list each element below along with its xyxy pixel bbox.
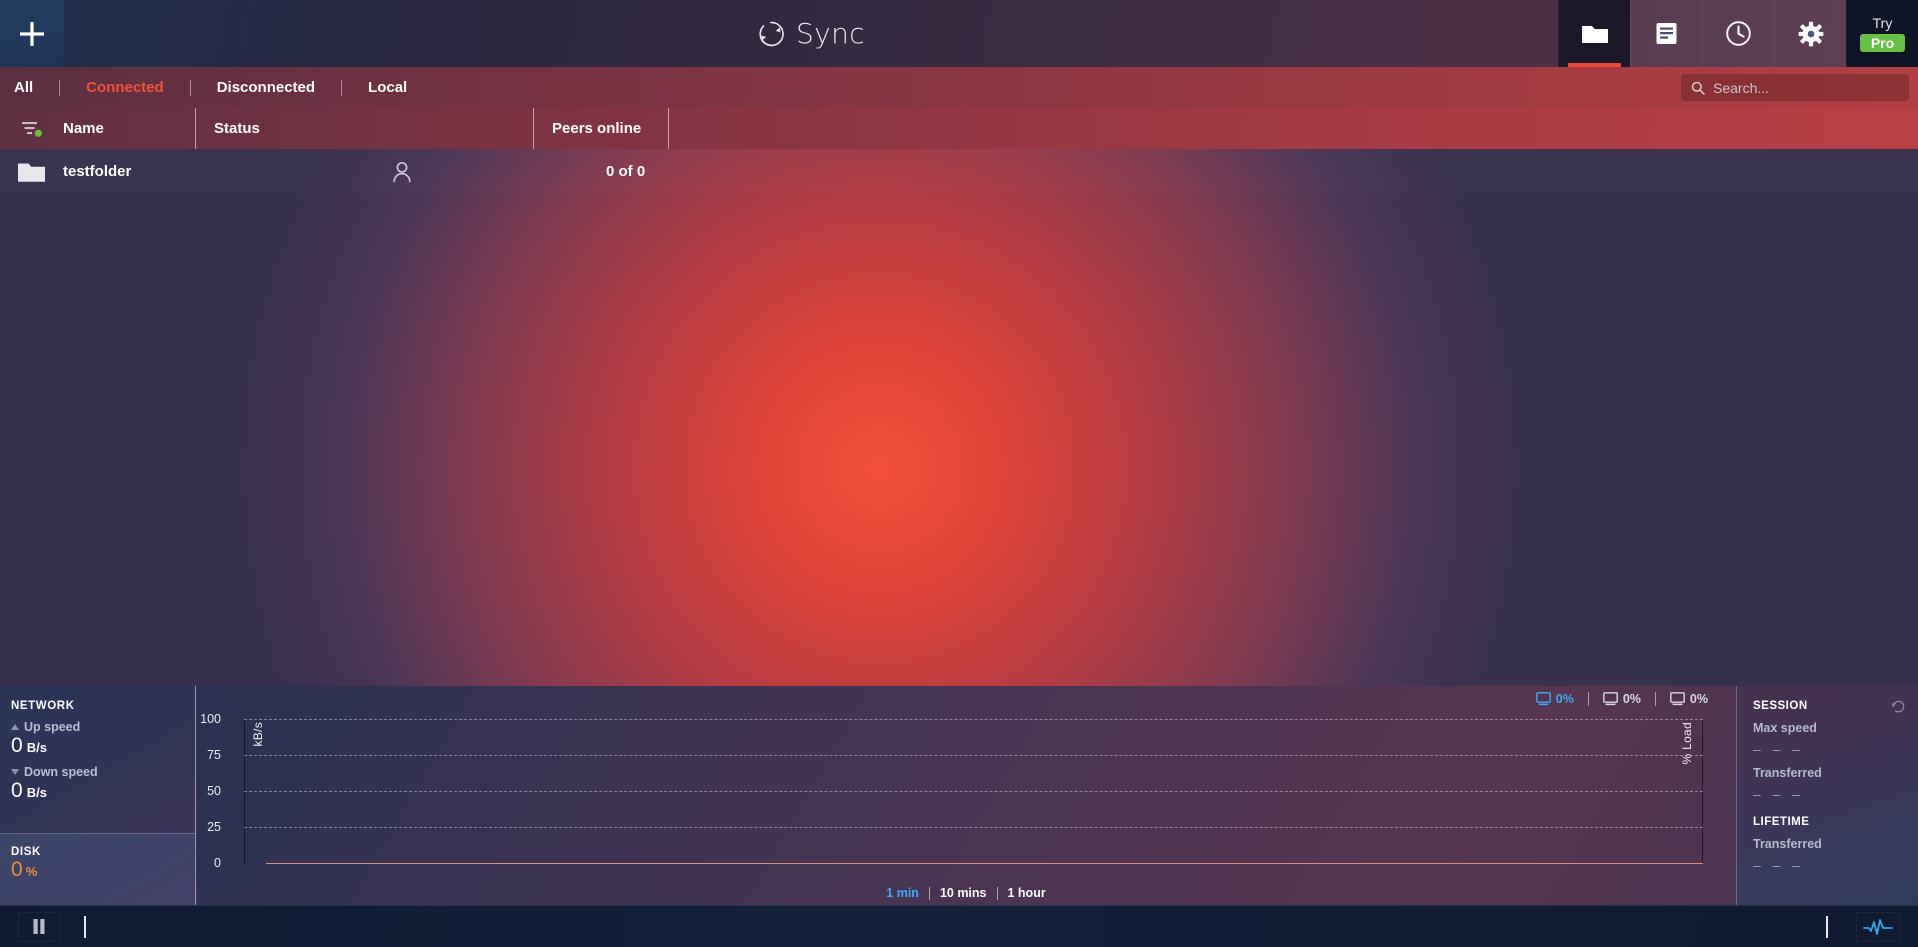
- cpu-indicator-1[interactable]: 0%: [1522, 692, 1588, 706]
- reset-counter-icon[interactable]: [1891, 699, 1906, 719]
- gear-settings-icon: [1798, 21, 1824, 47]
- column-header-filler: [669, 108, 1918, 149]
- search-input[interactable]: Search...: [1681, 74, 1909, 101]
- filter-tab-local[interactable]: Local: [364, 79, 411, 96]
- session-transferred-label: Transferred: [1753, 766, 1904, 780]
- triangle-down-icon: [11, 769, 19, 775]
- cpu-value-1: 0%: [1556, 692, 1574, 706]
- nav-icon-group: Try Pro: [1558, 0, 1918, 67]
- y-tick-left-25: 25: [191, 820, 221, 834]
- nav-settings[interactable]: [1774, 0, 1846, 67]
- activity-graph-icon: [1863, 918, 1893, 936]
- search-icon: [1691, 81, 1705, 95]
- down-speed-unit: B/s: [27, 785, 47, 800]
- status-bar-divider: [84, 916, 86, 938]
- column-label-name: Name: [63, 120, 104, 137]
- row-peers-online: 0 of 0: [534, 163, 669, 180]
- down-speed-value: 0: [11, 779, 23, 802]
- lifetime-transferred-value: – – –: [1753, 857, 1904, 873]
- y-tick-left-75: 75: [191, 748, 221, 762]
- network-panel: NETWORK Up speed 0B/s Down speed 0B/s DI…: [0, 686, 196, 905]
- status-bar-divider: [1826, 916, 1828, 938]
- session-max-speed-label: Max speed: [1753, 721, 1904, 735]
- app-title: Sync: [796, 17, 865, 50]
- column-header-peers[interactable]: Peers online: [534, 108, 669, 149]
- y-axis-label-left: kB/s: [251, 722, 265, 747]
- sync-circular-arrow-icon: [757, 20, 785, 48]
- network-title: NETWORK: [11, 700, 184, 712]
- filter-divider: [341, 80, 342, 96]
- bottom-stats-panel: NETWORK Up speed 0B/s Down speed 0B/s DI…: [0, 686, 1918, 905]
- lifetime-title: LIFETIME: [1753, 816, 1904, 828]
- app-brand: Sync: [64, 0, 1558, 67]
- table-row[interactable]: testfolder 0 of 0: [0, 149, 1918, 194]
- filter-tab-connected[interactable]: Connected: [82, 79, 168, 96]
- folders-content-area: Name Status Peers online testfolder: [0, 108, 1918, 686]
- up-speed-unit: B/s: [27, 740, 47, 755]
- filter-bar: All Connected Disconnected Local Search.…: [0, 67, 1918, 108]
- folder-icon: [1581, 22, 1609, 46]
- up-speed-label: Up speed: [24, 720, 80, 734]
- down-speed-label: Down speed: [24, 765, 98, 779]
- session-transferred-value: – – –: [1753, 786, 1904, 802]
- monitor-icon: [1603, 692, 1618, 706]
- chart-time-range-group: 1 min 10 mins 1 hour: [196, 886, 1736, 900]
- pause-sync-button[interactable]: [18, 912, 60, 942]
- document-list-icon: [1654, 21, 1679, 46]
- y-tick-left-0: 0: [191, 856, 221, 870]
- y-tick-left-50: 50: [191, 784, 221, 798]
- column-header-status[interactable]: Status: [196, 108, 534, 149]
- nav-transfers[interactable]: [1630, 0, 1702, 67]
- disk-unit: %: [26, 864, 38, 879]
- column-header-name[interactable]: Name: [63, 108, 196, 149]
- cpu-indicator-3[interactable]: 0%: [1656, 692, 1722, 706]
- monitor-icon: [1536, 692, 1551, 706]
- network-block: NETWORK Up speed 0B/s Down speed 0B/s: [0, 686, 195, 833]
- row-folder-icon-cell: [0, 160, 63, 184]
- gridline-75: [244, 755, 1703, 756]
- disk-value: 0: [11, 858, 23, 881]
- try-label: Try: [1873, 15, 1893, 31]
- sync-app-window: Sync: [0, 0, 1918, 947]
- disk-value-row: 0%: [11, 858, 184, 882]
- clock-history-icon: [1725, 20, 1752, 47]
- disk-title: DISK: [11, 846, 184, 858]
- row-status-cell: [196, 161, 534, 183]
- column-label-peers: Peers online: [552, 120, 641, 137]
- status-bar: [0, 905, 1918, 947]
- try-pro-button[interactable]: Try Pro: [1846, 0, 1918, 67]
- session-panel: SESSION Max speed – – – Transferred – – …: [1737, 686, 1918, 905]
- pause-icon: [31, 918, 47, 935]
- filter-divider: [59, 80, 60, 96]
- cpu-indicator-group: 0% 0% 0%: [1522, 692, 1722, 706]
- y-axis-label-right: % Load: [1680, 722, 1694, 765]
- filter-divider: [190, 80, 191, 96]
- disk-block: DISK 0%: [0, 833, 195, 905]
- filter-tab-disconnected[interactable]: Disconnected: [213, 79, 319, 96]
- nav-folders[interactable]: [1558, 0, 1630, 67]
- time-range-1hour[interactable]: 1 hour: [998, 886, 1056, 900]
- time-range-10mins[interactable]: 10 mins: [930, 886, 997, 900]
- down-speed-label-row: Down speed: [11, 765, 184, 779]
- plus-icon: [19, 21, 45, 47]
- folder-icon: [17, 160, 46, 184]
- filter-sort-icon: [21, 119, 43, 139]
- nav-history[interactable]: [1702, 0, 1774, 67]
- column-label-status: Status: [214, 120, 260, 137]
- chart-plot-area: 100 75 50 25 0 100 75 50 25 0: [196, 719, 1736, 905]
- gridline-50: [244, 791, 1703, 792]
- gridline-25: [244, 827, 1703, 828]
- top-toolbar: Sync: [0, 0, 1918, 67]
- lifetime-transferred-label: Transferred: [1753, 837, 1904, 851]
- session-title: SESSION: [1753, 700, 1904, 712]
- up-speed-value: 0: [11, 734, 23, 757]
- toggle-stats-button[interactable]: [1856, 912, 1900, 942]
- triangle-up-icon: [11, 724, 19, 730]
- speed-chart-panel: 0% 0% 0%: [196, 686, 1737, 905]
- gridline-100: [244, 719, 1703, 720]
- time-range-1min[interactable]: 1 min: [876, 886, 929, 900]
- up-speed-value-row: 0B/s: [11, 735, 184, 757]
- cpu-value-2: 0%: [1623, 692, 1641, 706]
- down-speed-value-row: 0B/s: [11, 780, 184, 802]
- pro-badge: Pro: [1860, 34, 1905, 52]
- add-folder-button[interactable]: [0, 0, 64, 67]
- cpu-indicator-2[interactable]: 0%: [1589, 692, 1655, 706]
- cpu-value-3: 0%: [1690, 692, 1708, 706]
- row-folder-name: testfolder: [63, 163, 196, 180]
- chart-series-line: [266, 863, 1703, 864]
- y-tick-left-100: 100: [191, 712, 221, 726]
- person-icon: [392, 161, 412, 183]
- up-speed-label-row: Up speed: [11, 720, 184, 734]
- session-max-speed-value: – – –: [1753, 741, 1904, 757]
- column-filter-button[interactable]: [0, 108, 63, 149]
- table-header: Name Status Peers online: [0, 108, 1918, 149]
- filter-tab-all[interactable]: All: [10, 79, 37, 96]
- monitor-icon: [1670, 692, 1685, 706]
- search-placeholder: Search...: [1713, 80, 1769, 96]
